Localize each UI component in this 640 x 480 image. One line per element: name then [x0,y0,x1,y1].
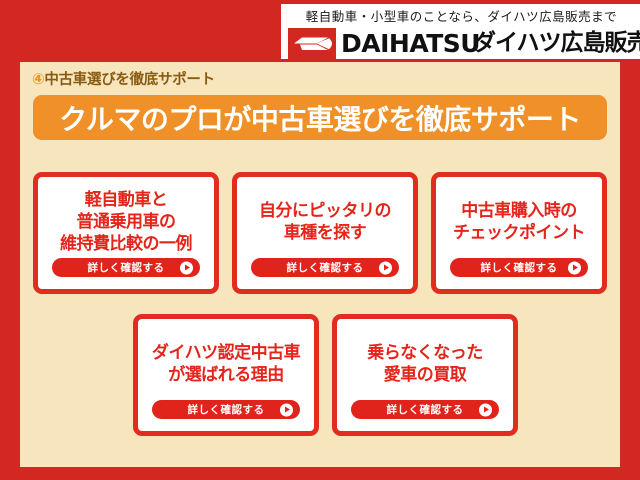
section-kicker: ④中古車選びを徹底サポート [32,69,215,89]
brand-dealer-name: ダイハツ広島販売 [473,29,639,58]
card-title-line: が選ばれる理由 [138,364,314,386]
card-cta-label: 詳しく確認する [387,402,464,417]
play-arrow-icon [379,261,392,274]
play-arrow-icon [479,403,492,416]
card-title-line: 中古車購入時の [436,200,602,222]
card-title: 軽自動車と 普通乗用車の 維持費比較の一例 [38,189,214,255]
card-title-line: 乗らなくなった [337,342,513,364]
card-cta-button[interactable]: 詳しく確認する [251,258,399,277]
card-title-line: 普通乗用車の [38,211,214,233]
card-title-line: 維持費比較の一例 [38,233,214,255]
card-title: ダイハツ認定中古車 が選ばれる理由 [138,342,314,386]
card-cta-label: 詳しく確認する [481,260,558,275]
card-title-line: 軽自動車と [38,189,214,211]
card-cta-button[interactable]: 詳しく確認する [351,400,499,419]
section-kicker-number: ④ [32,70,44,88]
card-title-line: 自分にピッタリの [237,200,413,222]
card-used-car-checkpoints[interactable]: 中古車購入時の チェックポイント 詳しく確認する [431,172,607,294]
brand-tagline: 軽自動車・小型車のことなら、ダイハツ広島販売まで [289,6,634,28]
section-headline-banner: クルマのプロが中古車選びを徹底サポート [33,95,607,140]
play-arrow-icon [280,403,293,416]
card-title-line: 愛車の買取 [337,364,513,386]
play-arrow-icon [568,261,581,274]
card-certified-used-car-reasons[interactable]: ダイハツ認定中古車 が選ばれる理由 詳しく確認する [133,314,319,436]
play-arrow-icon [180,261,193,274]
content-panel: ④中古車選びを徹底サポート クルマのプロが中古車選びを徹底サポート 軽自動車と … [20,62,620,467]
card-cta-label: 詳しく確認する [88,260,165,275]
card-title-line: ダイハツ認定中古車 [138,342,314,364]
card-cta-label: 詳しく確認する [287,260,364,275]
card-cta-button[interactable]: 詳しく確認する [52,258,200,277]
brand-logo-row: DAIHATSU ダイハツ広島販売 [281,28,640,59]
card-title: 自分にピッタリの 車種を探す [237,200,413,244]
section-headline-text: クルマのプロが中古車選びを徹底サポート [59,98,581,138]
card-car-buyback[interactable]: 乗らなくなった 愛車の買取 詳しく確認する [332,314,518,436]
brand-name-en: DAIHATSU [341,29,469,58]
daihatsu-d-mark-icon [288,28,336,59]
card-find-your-model[interactable]: 自分にピッタリの 車種を探す 詳しく確認する [232,172,418,294]
brand-bar: 軽自動車・小型車のことなら、ダイハツ広島販売まで DAIHATSU ダイハツ広島… [0,0,640,62]
card-cta-label: 詳しく確認する [188,402,265,417]
card-cta-button[interactable]: 詳しく確認する [450,258,588,277]
card-title: 中古車購入時の チェックポイント [436,200,602,244]
card-title-line: チェックポイント [436,222,602,244]
page-root: 軽自動車・小型車のことなら、ダイハツ広島販売まで DAIHATSU ダイハツ広島… [0,0,640,480]
card-title: 乗らなくなった 愛車の買取 [337,342,513,386]
brand-logo-box: 軽自動車・小型車のことなら、ダイハツ広島販売まで DAIHATSU ダイハツ広島… [281,4,640,59]
card-title-line: 車種を探す [237,222,413,244]
card-cta-button[interactable]: 詳しく確認する [152,400,300,419]
section-kicker-text: 中古車選びを徹底サポート [44,72,214,88]
card-maintenance-cost-comparison[interactable]: 軽自動車と 普通乗用車の 維持費比較の一例 詳しく確認する [33,172,219,294]
